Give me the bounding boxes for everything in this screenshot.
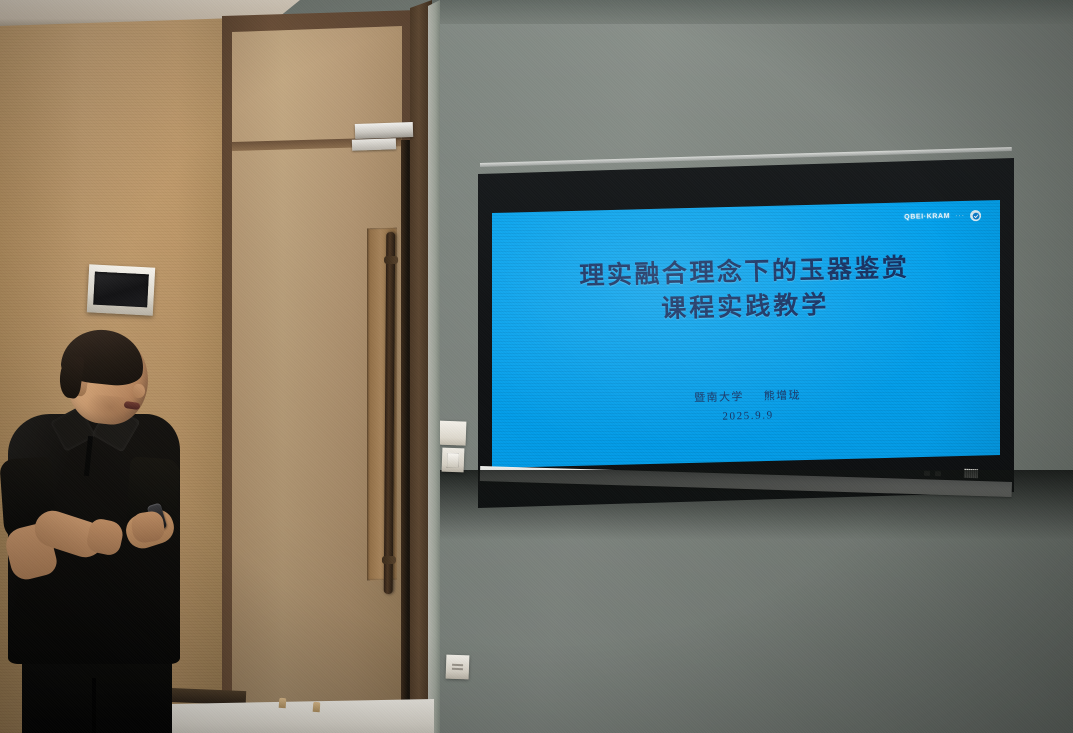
- power-outlet[interactable]: [446, 655, 470, 680]
- display-power-button[interactable]: [964, 469, 978, 478]
- light-switch-lower[interactable]: [442, 448, 465, 473]
- presenter-face-shading: [85, 394, 136, 427]
- magnetic-door-closer: [355, 122, 413, 139]
- watermark-label: QBEI·KRAM: [904, 213, 950, 221]
- slide-title: 理实融合理念下的玉器鉴赏 课程实践教学: [492, 250, 1000, 332]
- table-object: [313, 702, 321, 712]
- slide: QBEI·KRAM ··· 理实融合理念下的玉器鉴赏 课程实践教学 暨南大学熊增…: [492, 200, 1000, 468]
- display-ports[interactable]: [924, 471, 941, 477]
- outlet-slot: [452, 668, 463, 670]
- handle-mount: [384, 256, 398, 264]
- port-usb[interactable]: [924, 471, 930, 476]
- switch-rocker[interactable]: [447, 452, 460, 467]
- slide-watermark: QBEI·KRAM ···: [904, 210, 981, 223]
- display-screen[interactable]: QBEI·KRAM ··· 理实融合理念下的玉器鉴赏 课程实践教学 暨南大学熊增…: [492, 200, 1000, 468]
- port-hdmi[interactable]: [935, 471, 941, 476]
- presenter-leg-split: [92, 678, 96, 733]
- watermark-badge-icon: [970, 210, 981, 221]
- outlet-slot: [452, 664, 463, 666]
- door-closer-armature: [352, 138, 396, 151]
- control-panel-screen[interactable]: [93, 272, 149, 308]
- interactive-display[interactable]: QBEI·KRAM ··· 理实融合理念下的玉器鉴赏 课程实践教学 暨南大学熊增…: [478, 158, 1014, 508]
- wall-control-panel[interactable]: [87, 264, 155, 315]
- right-wall-top-shadow: [432, 0, 1073, 24]
- watermark-dots: ···: [955, 212, 965, 219]
- door-jamb-edge: [428, 0, 440, 733]
- slide-byline: 暨南大学熊增珑 2025.9.9: [493, 382, 1000, 432]
- photo-scene: QBEI·KRAM ··· 理实融合理念下的玉器鉴赏 课程实践教学 暨南大学熊增…: [0, 0, 1073, 733]
- slide-affiliation: 暨南大学: [694, 391, 744, 404]
- presenter-legs: [22, 652, 172, 733]
- table-object: [279, 698, 287, 708]
- presenter: [0, 330, 210, 733]
- slide-author: 熊增珑: [764, 390, 801, 403]
- handle-mount: [382, 556, 396, 564]
